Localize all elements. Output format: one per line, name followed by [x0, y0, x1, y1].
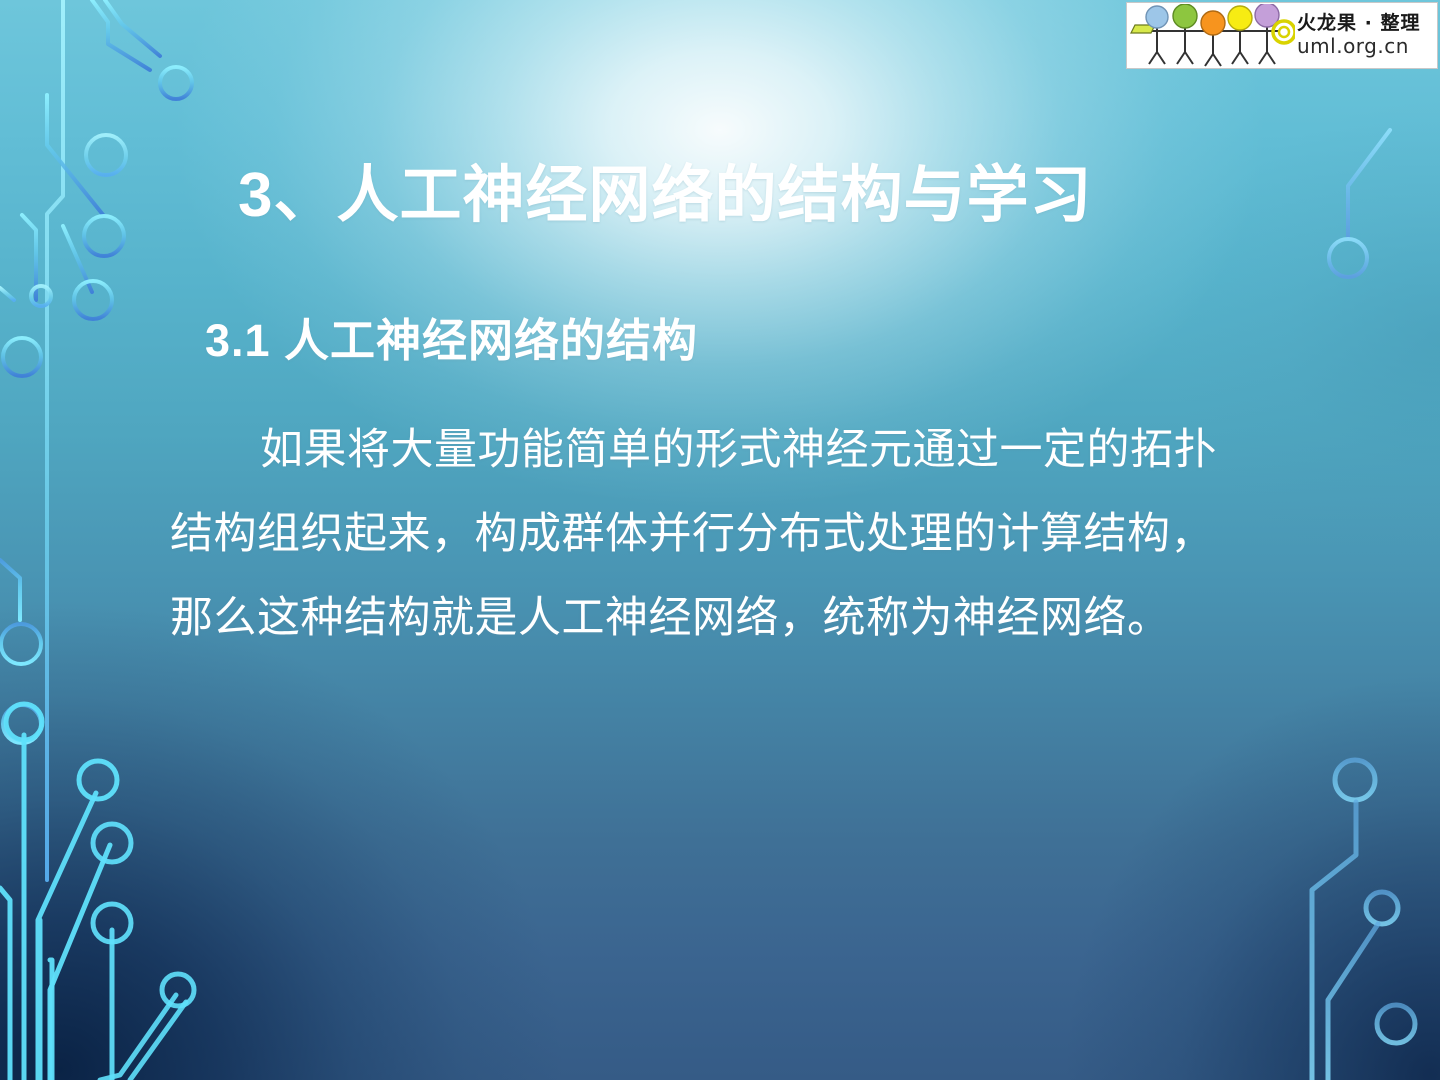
logo-watermark: 火龙果 · 整理 uml.org.cn — [1126, 2, 1438, 69]
logo-text-block: 火龙果 · 整理 uml.org.cn — [1295, 13, 1437, 57]
logo-brand-title: 火龙果 · 整理 — [1297, 13, 1437, 34]
stick-figures-logo-icon — [1127, 4, 1295, 68]
body-line-1: 如果将大量功能简单的形式神经元通过一定的拓扑 — [170, 408, 1340, 492]
slide-body: 如果将大量功能简单的形式神经元通过一定的拓扑 结构组织起来，构成群体并行分布式处… — [170, 408, 1340, 660]
body-line-3: 那么这种结构就是人工神经网络，统称为神经网络。 — [170, 576, 1340, 660]
body-line-2: 结构组织起来，构成群体并行分布式处理的计算结构， — [170, 492, 1340, 576]
slide-title: 3、人工神经网络的结构与学习 — [238, 163, 1248, 230]
slide-canvas: 3、人工神经网络的结构与学习 3.1 人工神经网络的结构 如果将大量功能简单的形… — [0, 0, 1440, 1080]
logo-site-url: uml.org.cn — [1297, 36, 1437, 58]
slide-subtitle: 3.1 人工神经网络的结构 — [205, 304, 698, 369]
